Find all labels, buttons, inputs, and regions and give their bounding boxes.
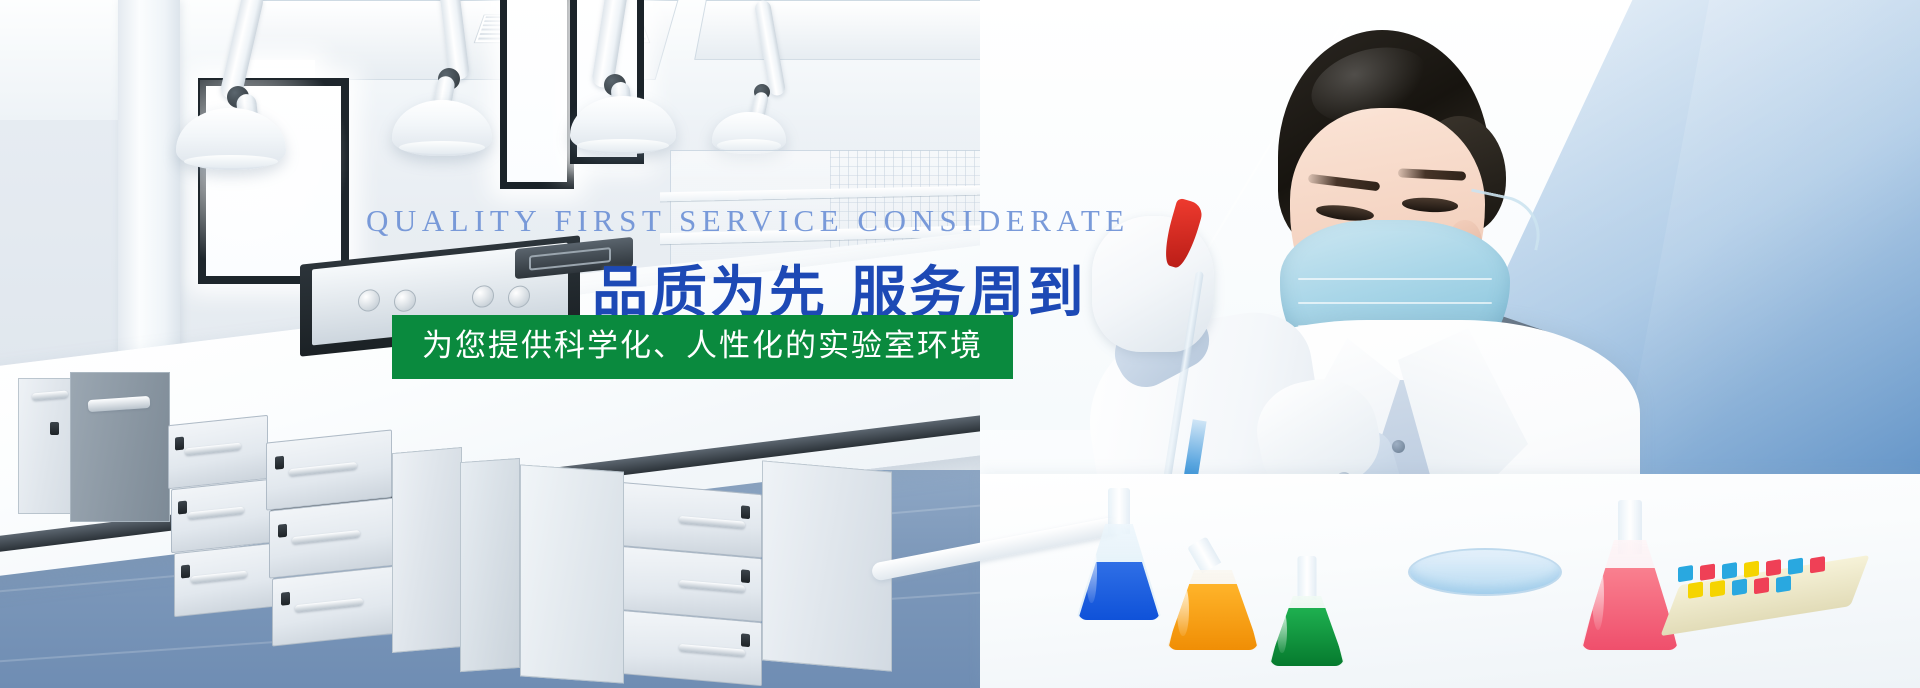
banner-text-block: QUALITY FIRST SERVICE CONSIDERATE 品质为先 服… (0, 0, 1920, 688)
english-tagline: QUALITY FIRST SERVICE CONSIDERATE (366, 203, 1130, 239)
subtitle-bar: 为您提供科学化、人性化的实验室环境 (392, 315, 1013, 379)
subtitle-text: 为您提供科学化、人性化的实验室环境 (422, 328, 983, 364)
promo-banner: QUALITY FIRST SERVICE CONSIDERATE 品质为先 服… (0, 0, 1920, 688)
